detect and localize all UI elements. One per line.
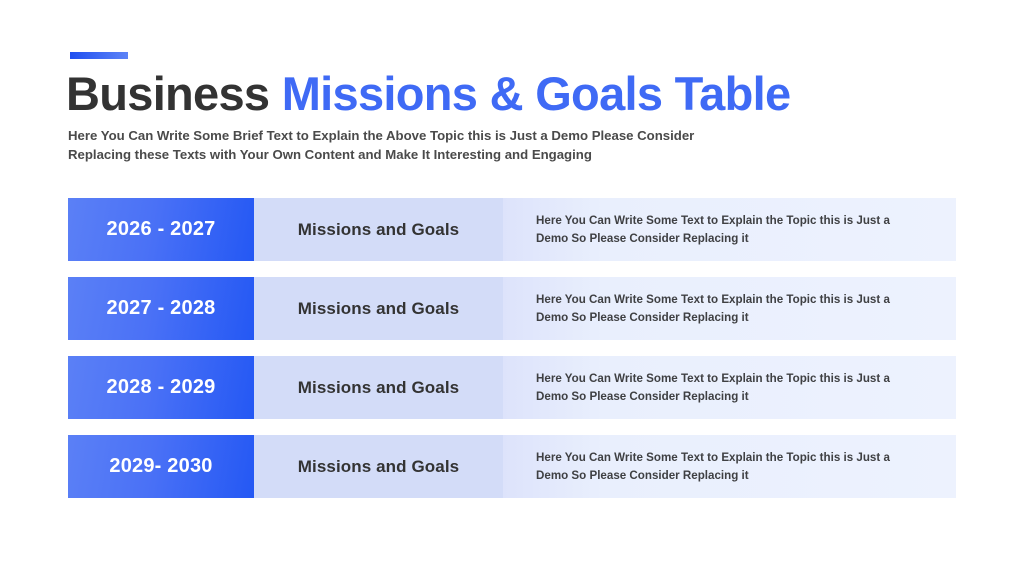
- missions-goals-table: 2026 - 2027 Missions and Goals Here You …: [68, 198, 956, 498]
- row-period-label: 2029- 2030: [109, 455, 212, 478]
- row-period-label: 2028 - 2029: [107, 376, 216, 399]
- row-description-text: Here You Can Write Some Text to Explain …: [536, 291, 918, 326]
- row-description-cell: Here You Can Write Some Text to Explain …: [503, 356, 956, 419]
- row-period-cell: 2027 - 2028: [68, 277, 254, 340]
- page-subtitle: Here You Can Write Some Brief Text to Ex…: [68, 126, 828, 164]
- slide-canvas: Business Missions & Goals Table Here You…: [0, 0, 1024, 576]
- row-topic-cell: Missions and Goals: [254, 277, 503, 340]
- row-description-cell: Here You Can Write Some Text to Explain …: [503, 198, 956, 261]
- page-title-highlight: Missions & Goals Table: [282, 67, 791, 120]
- row-description-cell: Here You Can Write Some Text to Explain …: [503, 435, 956, 498]
- row-period-label: 2026 - 2027: [107, 218, 216, 241]
- row-description-text: Here You Can Write Some Text to Explain …: [536, 449, 918, 484]
- title-accent-bar: [70, 52, 128, 59]
- table-row[interactable]: 2028 - 2029 Missions and Goals Here You …: [68, 356, 956, 419]
- table-row[interactable]: 2029- 2030 Missions and Goals Here You C…: [68, 435, 956, 498]
- row-topic-cell: Missions and Goals: [254, 435, 503, 498]
- row-topic-label: Missions and Goals: [298, 457, 459, 477]
- row-topic-label: Missions and Goals: [298, 378, 459, 398]
- page-subtitle-line-1: Here You Can Write Some Brief Text to Ex…: [68, 126, 828, 145]
- row-topic-cell: Missions and Goals: [254, 198, 503, 261]
- page-title: Business Missions & Goals Table: [66, 68, 790, 120]
- row-description-cell: Here You Can Write Some Text to Explain …: [503, 277, 956, 340]
- row-period-cell: 2028 - 2029: [68, 356, 254, 419]
- row-period-cell: 2029- 2030: [68, 435, 254, 498]
- row-description-text: Here You Can Write Some Text to Explain …: [536, 370, 918, 405]
- row-period-label: 2027 - 2028: [107, 297, 216, 320]
- row-topic-label: Missions and Goals: [298, 299, 459, 319]
- row-period-cell: 2026 - 2027: [68, 198, 254, 261]
- page-subtitle-line-2: Replacing these Texts with Your Own Cont…: [68, 145, 828, 164]
- table-row[interactable]: 2027 - 2028 Missions and Goals Here You …: [68, 277, 956, 340]
- row-topic-label: Missions and Goals: [298, 220, 459, 240]
- row-description-text: Here You Can Write Some Text to Explain …: [536, 212, 918, 247]
- page-title-primary: Business: [66, 67, 282, 120]
- row-topic-cell: Missions and Goals: [254, 356, 503, 419]
- table-row[interactable]: 2026 - 2027 Missions and Goals Here You …: [68, 198, 956, 261]
